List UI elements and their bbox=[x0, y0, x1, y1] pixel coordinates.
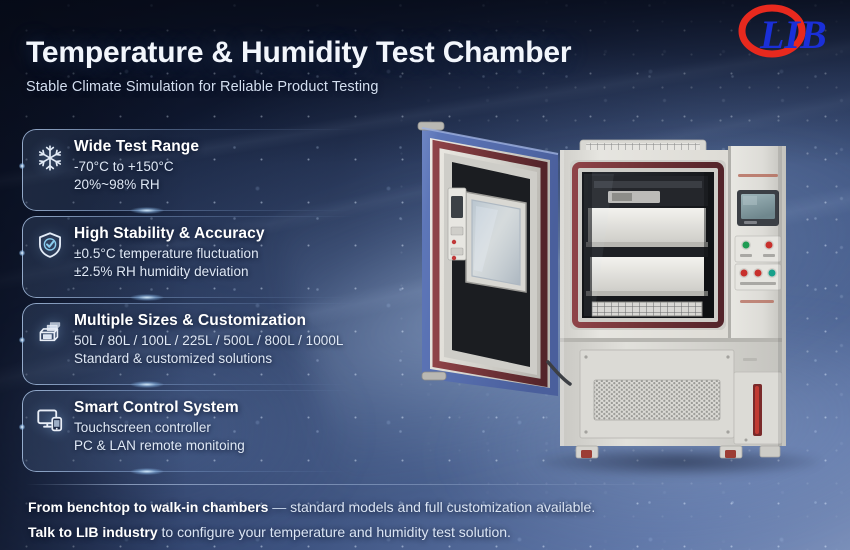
lib-logo-text: LIB bbox=[759, 12, 827, 57]
card-node-dot bbox=[19, 424, 25, 430]
page-subtitle: Stable Climate Simulation for Reliable P… bbox=[26, 79, 571, 95]
footer-line-1-dash: — bbox=[268, 499, 290, 515]
footer-divider bbox=[26, 484, 666, 485]
monitor-phone-icon bbox=[36, 405, 64, 433]
feature-line-2: ±2.5% RH humidity deviation bbox=[74, 264, 382, 279]
footer-line-2: Talk to LIB industry to configure your t… bbox=[28, 520, 595, 545]
feature-title: Smart Control System bbox=[74, 399, 382, 417]
panel-model-text bbox=[738, 174, 778, 177]
feature-title: Wide Test Range bbox=[74, 138, 382, 156]
feature-card-multiple-sizes[interactable]: Multiple Sizes & Customization 50L / 80L… bbox=[22, 303, 382, 385]
feature-line-2: PC & LAN remote monitoing bbox=[74, 438, 382, 453]
feature-title: High Stability & Accuracy bbox=[74, 225, 382, 243]
footer-line-1: From benchtop to walk-in chambers — stan… bbox=[28, 495, 595, 520]
stacked-boxes-icon bbox=[36, 318, 64, 346]
footer-line-1-bold: From benchtop to walk-in chambers bbox=[28, 499, 268, 515]
feature-line-1: -70°C to +150°C bbox=[74, 159, 382, 174]
snowflake-icon bbox=[36, 144, 64, 172]
card-node-dot bbox=[19, 163, 25, 169]
card-node-dot bbox=[19, 250, 25, 256]
promo-banner: LIB Temperature & Humidity Test Chamber … bbox=[0, 0, 850, 550]
page-title: Temperature & Humidity Test Chamber bbox=[26, 36, 571, 70]
footer: From benchtop to walk-in chambers — stan… bbox=[28, 495, 595, 545]
shield-check-icon bbox=[36, 231, 64, 259]
panel-brand-plate bbox=[740, 300, 774, 303]
feature-line-2: Standard & customized solutions bbox=[74, 351, 382, 366]
product-image-test-chamber bbox=[408, 96, 838, 486]
feature-line-1: 50L / 80L / 100L / 225L / 500L / 800L / … bbox=[74, 333, 382, 348]
feature-card-smart-control[interactable]: Smart Control System Touchscreen control… bbox=[22, 390, 382, 472]
feature-card-wide-test-range[interactable]: Wide Test Range -70°C to +150°C 20%~98% … bbox=[22, 129, 382, 211]
lib-logo: LIB bbox=[730, 4, 838, 60]
feature-line-1: ±0.5°C temperature fluctuation bbox=[74, 246, 382, 261]
feature-card-high-stability[interactable]: High Stability & Accuracy ±0.5°C tempera… bbox=[22, 216, 382, 298]
footer-line-2-rest: to configure your temperature and humidi… bbox=[158, 524, 511, 540]
header: Temperature & Humidity Test Chamber Stab… bbox=[26, 36, 571, 95]
feature-line-2: 20%~98% RH bbox=[74, 177, 382, 192]
feature-line-1: Touchscreen controller bbox=[74, 420, 382, 435]
feature-title: Multiple Sizes & Customization bbox=[74, 312, 382, 330]
footer-line-1-rest: standard models and full customization a… bbox=[290, 499, 595, 515]
card-node-dot bbox=[19, 337, 25, 343]
feature-list: Wide Test Range -70°C to +150°C 20%~98% … bbox=[22, 129, 382, 477]
footer-line-2-bold: Talk to LIB industry bbox=[28, 524, 158, 540]
